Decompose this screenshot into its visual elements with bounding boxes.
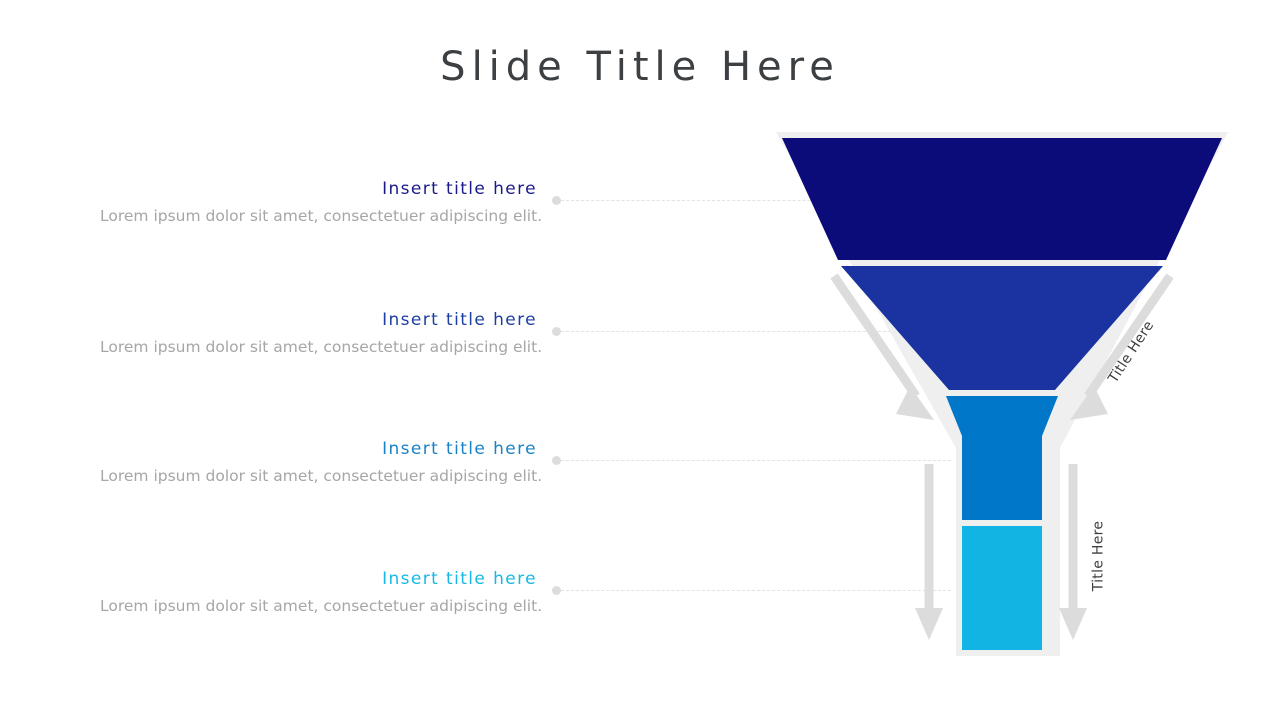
page-title: Slide Title Here — [0, 44, 1280, 90]
item-description-4: Lorem ipsum dolor sit amet, consectetuer… — [100, 595, 537, 617]
item-description-1: Lorem ipsum dolor sit amet, consectetuer… — [100, 205, 537, 227]
funnel-tier-1[interactable] — [782, 138, 1222, 260]
text-block-1[interactable]: Insert title here Lorem ipsum dolor sit … — [100, 178, 537, 227]
connector-dot-2 — [552, 327, 561, 336]
item-description-3: Lorem ipsum dolor sit amet, consectetuer… — [100, 465, 537, 487]
item-title-3: Insert title here — [100, 438, 537, 460]
funnel-tier-4[interactable] — [962, 526, 1042, 650]
left-vertical-arrow — [915, 464, 943, 640]
vertical-arrow-label: Title Here — [1090, 521, 1106, 592]
connector-dot-3 — [552, 456, 561, 465]
connector-dot-4 — [552, 586, 561, 595]
text-block-3[interactable]: Insert title here Lorem ipsum dolor sit … — [100, 438, 537, 487]
funnel-svg — [770, 128, 1240, 668]
slide-canvas: Slide Title Here Insert title here Lorem… — [0, 0, 1280, 720]
text-block-2[interactable]: Insert title here Lorem ipsum dolor sit … — [100, 309, 537, 358]
item-title-4: Insert title here — [100, 568, 537, 590]
item-description-2: Lorem ipsum dolor sit amet, consectetuer… — [100, 336, 537, 358]
funnel-tier-3[interactable] — [946, 396, 1058, 520]
item-title-1: Insert title here — [100, 178, 537, 200]
text-block-4[interactable]: Insert title here Lorem ipsum dolor sit … — [100, 568, 537, 617]
funnel-chart — [770, 128, 1240, 668]
connector-dot-1 — [552, 196, 561, 205]
item-title-2: Insert title here — [100, 309, 537, 331]
right-vertical-arrow — [1059, 464, 1087, 640]
